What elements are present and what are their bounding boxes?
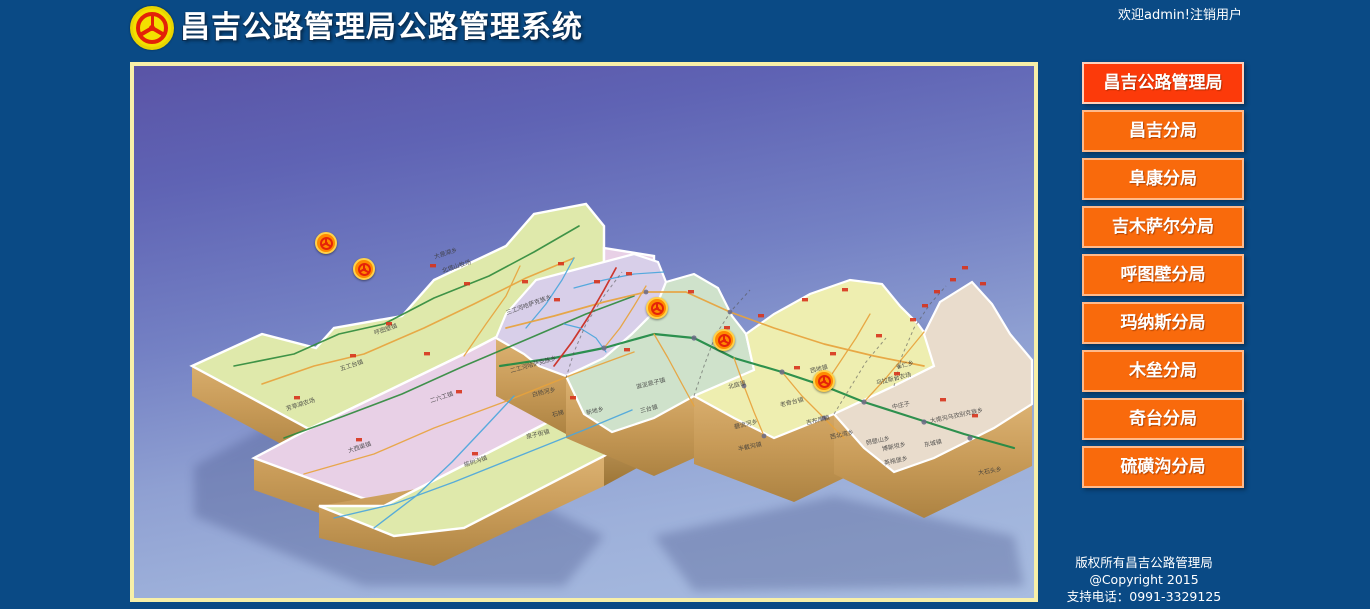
map-stage[interactable]: 大泉湖乡 北塔山牧场 呼图壁镇 五工台镇 芳草湖农场 二六工镇 大西渠镇 榆树沟…: [134, 66, 1034, 598]
nav-button-manas-branch[interactable]: 玛纳斯分局: [1082, 302, 1244, 344]
changji-3d-relief-map-graphic[interactable]: [134, 66, 1034, 598]
footer-support-phone: 支持电话：0991-3329125: [1044, 588, 1244, 605]
app-root: 昌吉公路管理局公路管理系统 欢迎admin!注销用户: [0, 0, 1370, 609]
nav-button-fukang-branch[interactable]: 阜康分局: [1082, 158, 1244, 200]
map-marker-hutubi[interactable]: [315, 232, 337, 254]
footer-copyright-owner: 版权所有昌吉公路管理局: [1044, 554, 1244, 571]
map-marker-changji[interactable]: [646, 297, 668, 319]
nav-button-liuhuanggou-branch[interactable]: 硫磺沟分局: [1082, 446, 1244, 488]
welcome-text: 欢迎admin!: [1118, 8, 1190, 23]
highway-administration-emblem-icon: [130, 6, 174, 50]
page-title: 昌吉公路管理局公路管理系统: [180, 6, 583, 50]
nav-button-qitai-branch[interactable]: 奇台分局: [1082, 398, 1244, 440]
nav-button-hutubi-branch[interactable]: 呼图壁分局: [1082, 254, 1244, 296]
nav-button-changji-branch[interactable]: 昌吉分局: [1082, 110, 1244, 152]
logout-link[interactable]: 注销用户: [1190, 8, 1242, 23]
nav-button-changji-highway-bureau[interactable]: 昌吉公路管理局: [1082, 62, 1244, 104]
brand: 昌吉公路管理局公路管理系统: [130, 6, 583, 50]
welcome-bar: 欢迎admin!注销用户: [1118, 4, 1242, 23]
map-marker-fukang[interactable]: [713, 329, 735, 351]
map-panel: 大泉湖乡 北塔山牧场 呼图壁镇 五工台镇 芳草湖农场 二六工镇 大西渠镇 榆树沟…: [130, 62, 1038, 602]
page-header: 昌吉公路管理局公路管理系统 欢迎admin!注销用户: [0, 0, 1370, 58]
nav-button-mulei-branch[interactable]: 木垒分局: [1082, 350, 1244, 392]
nav-button-jimsar-branch[interactable]: 吉木萨尔分局: [1082, 206, 1244, 248]
footer-copyright-year: @Copyright 2015: [1044, 571, 1244, 588]
page-footer: 版权所有昌吉公路管理局 @Copyright 2015 支持电话：0991-33…: [1044, 554, 1244, 605]
map-marker-jimsar[interactable]: [813, 370, 835, 392]
branch-nav: 昌吉公路管理局 昌吉分局 阜康分局 吉木萨尔分局 呼图壁分局 玛纳斯分局 木垒分…: [1082, 62, 1244, 494]
map-marker-manas[interactable]: [353, 258, 375, 280]
